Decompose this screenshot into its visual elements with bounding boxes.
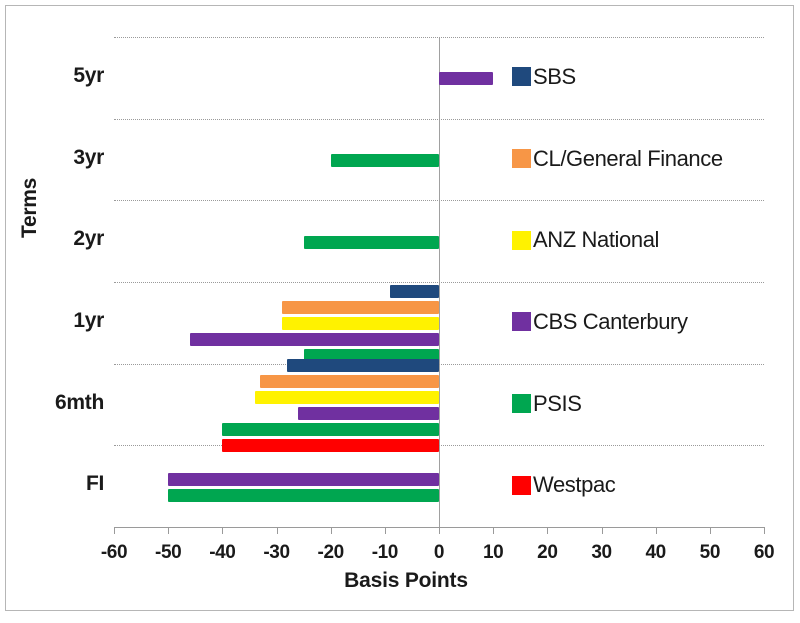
- x-axis-tick-label: -20: [318, 542, 344, 564]
- x-axis-tick-label: 50: [700, 542, 720, 564]
- bar: [282, 301, 439, 314]
- x-axis-tick-label: 0: [434, 542, 444, 564]
- plot-area: [114, 37, 764, 527]
- bar: [168, 489, 439, 502]
- x-axis-title: Basis Points: [6, 569, 800, 593]
- y-axis-title: Terms: [18, 178, 42, 238]
- bar: [298, 407, 439, 420]
- bar: [260, 375, 439, 388]
- legend-item[interactable]: ANZ National: [512, 227, 659, 253]
- y-axis-tick-label: FI: [86, 472, 104, 496]
- legend-item-label: ANZ National: [533, 227, 659, 253]
- bar: [168, 473, 439, 486]
- y-axis-tick-label: 5yr: [73, 64, 104, 88]
- y-axis-tick-label: 2yr: [73, 227, 104, 251]
- gridline: [114, 364, 764, 365]
- bar: [439, 72, 493, 85]
- x-axis-tick: [114, 527, 115, 534]
- x-axis-tick: [547, 527, 548, 534]
- x-axis-tick: [439, 527, 440, 534]
- gridline: [114, 119, 764, 120]
- gridline: [114, 37, 764, 38]
- x-axis-tick-label: 20: [537, 542, 557, 564]
- x-axis-tick: [710, 527, 711, 534]
- gridline: [114, 200, 764, 201]
- legend-color-swatch-icon: [512, 394, 531, 413]
- y-axis-tick-label: 1yr: [73, 309, 104, 333]
- y-axis-tick-label: 3yr: [73, 146, 104, 170]
- chart-frame: Terms 5yr3yr2yr1yr6mthFI -60-50-40-30-20…: [5, 5, 794, 611]
- legend-color-swatch-icon: [512, 312, 531, 331]
- x-axis-tick-label: 30: [591, 542, 611, 564]
- legend-item[interactable]: CBS Canterbury: [512, 309, 688, 335]
- x-axis-tick-label: 10: [483, 542, 503, 564]
- legend-color-swatch-icon: [512, 231, 531, 250]
- x-axis-tick: [602, 527, 603, 534]
- x-axis-tick-label: -40: [209, 542, 235, 564]
- legend-color-swatch-icon: [512, 67, 531, 86]
- bar: [222, 423, 439, 436]
- x-axis-tick-label: -10: [372, 542, 398, 564]
- x-axis-tick-label: -30: [263, 542, 289, 564]
- legend-item-label: CBS Canterbury: [533, 309, 688, 335]
- bar: [287, 359, 439, 372]
- legend-color-swatch-icon: [512, 149, 531, 168]
- x-axis-tick: [385, 527, 386, 534]
- bar: [304, 236, 439, 249]
- legend-item-label: PSIS: [533, 391, 582, 417]
- legend-item-label: Westpac: [533, 472, 615, 498]
- bar: [222, 439, 439, 452]
- gridline: [114, 282, 764, 283]
- legend-item[interactable]: Westpac: [512, 472, 615, 498]
- x-axis-tick-label: -60: [101, 542, 127, 564]
- legend-item[interactable]: PSIS: [512, 391, 582, 417]
- x-axis-tick-label: 60: [754, 542, 774, 564]
- legend-item-label: CL/General Finance: [533, 146, 723, 172]
- gridline: [114, 445, 764, 446]
- legend-item[interactable]: SBS: [512, 64, 576, 90]
- legend-color-swatch-icon: [512, 476, 531, 495]
- bar: [282, 317, 439, 330]
- x-axis-tick: [656, 527, 657, 534]
- x-axis-tick: [222, 527, 223, 534]
- x-axis-tick: [277, 527, 278, 534]
- bar: [190, 333, 439, 346]
- y-axis-tick-label: 6mth: [55, 391, 104, 415]
- bar: [390, 285, 439, 298]
- x-axis-tick-label: 40: [645, 542, 665, 564]
- legend-item[interactable]: CL/General Finance: [512, 146, 723, 172]
- legend-item-label: SBS: [533, 64, 576, 90]
- y-axis: Terms 5yr3yr2yr1yr6mthFI: [6, 6, 114, 623]
- x-axis-tick: [764, 527, 765, 534]
- x-axis-tick: [168, 527, 169, 534]
- bar: [331, 154, 439, 167]
- x-axis-tick: [493, 527, 494, 534]
- bar: [255, 391, 439, 404]
- x-axis-tick-label: -50: [155, 542, 181, 564]
- x-axis-tick: [331, 527, 332, 534]
